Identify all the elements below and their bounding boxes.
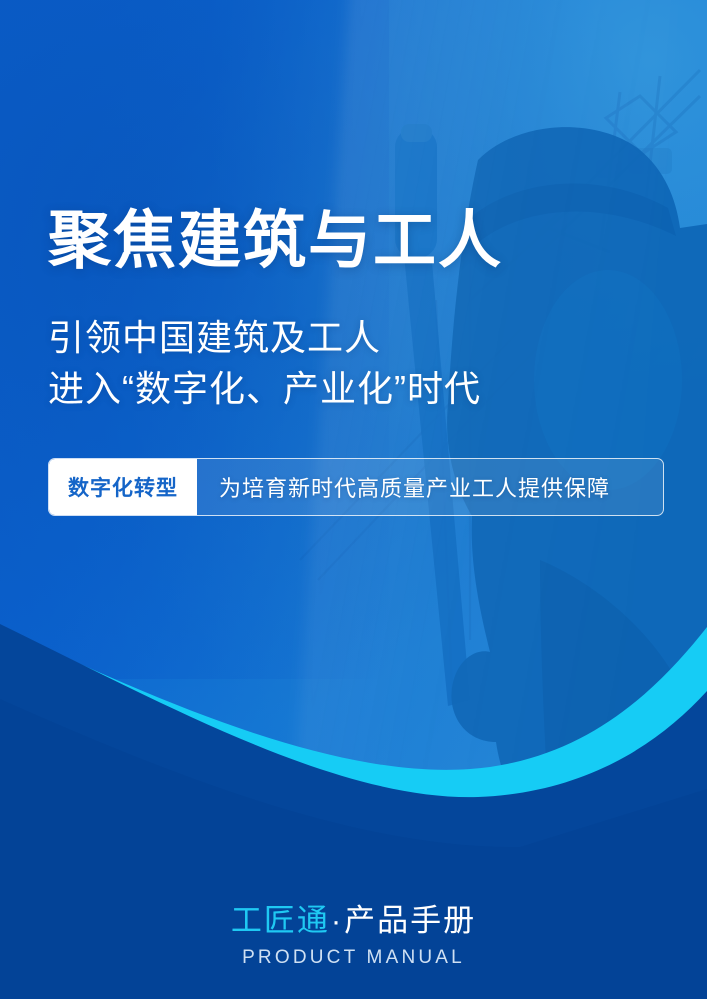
badge-tag-label: 数字化转型 bbox=[49, 459, 197, 515]
status-badge: 数字化转型 为培育新时代高质量产业工人提供保障 bbox=[48, 458, 664, 516]
footer-branding: 工匠通·产品手册 PRODUCT MANUAL bbox=[0, 902, 707, 969]
page-subtitle-line-2: 进入“数字化、产业化”时代 bbox=[48, 363, 481, 414]
brand-title: 工匠通·产品手册 bbox=[0, 902, 707, 939]
manual-cover-page: 聚焦建筑与工人 引领中国建筑及工人 进入“数字化、产业化”时代 数字化转型 为培… bbox=[0, 0, 707, 999]
badge-description: 为培育新时代高质量产业工人提供保障 bbox=[197, 459, 632, 515]
brand-separator: · bbox=[330, 903, 344, 938]
brand-subtitle-en: PRODUCT MANUAL bbox=[0, 947, 707, 969]
page-subtitle-line-1: 引领中国建筑及工人 bbox=[48, 312, 481, 363]
cover-content: 聚焦建筑与工人 引领中国建筑及工人 进入“数字化、产业化”时代 数字化转型 为培… bbox=[0, 0, 707, 999]
page-title: 聚焦建筑与工人 bbox=[48, 207, 503, 275]
brand-name: 工匠通 bbox=[231, 903, 330, 938]
page-subtitle: 引领中国建筑及工人 进入“数字化、产业化”时代 bbox=[48, 312, 481, 414]
brand-subtitle-cn: 产品手册 bbox=[344, 903, 476, 938]
